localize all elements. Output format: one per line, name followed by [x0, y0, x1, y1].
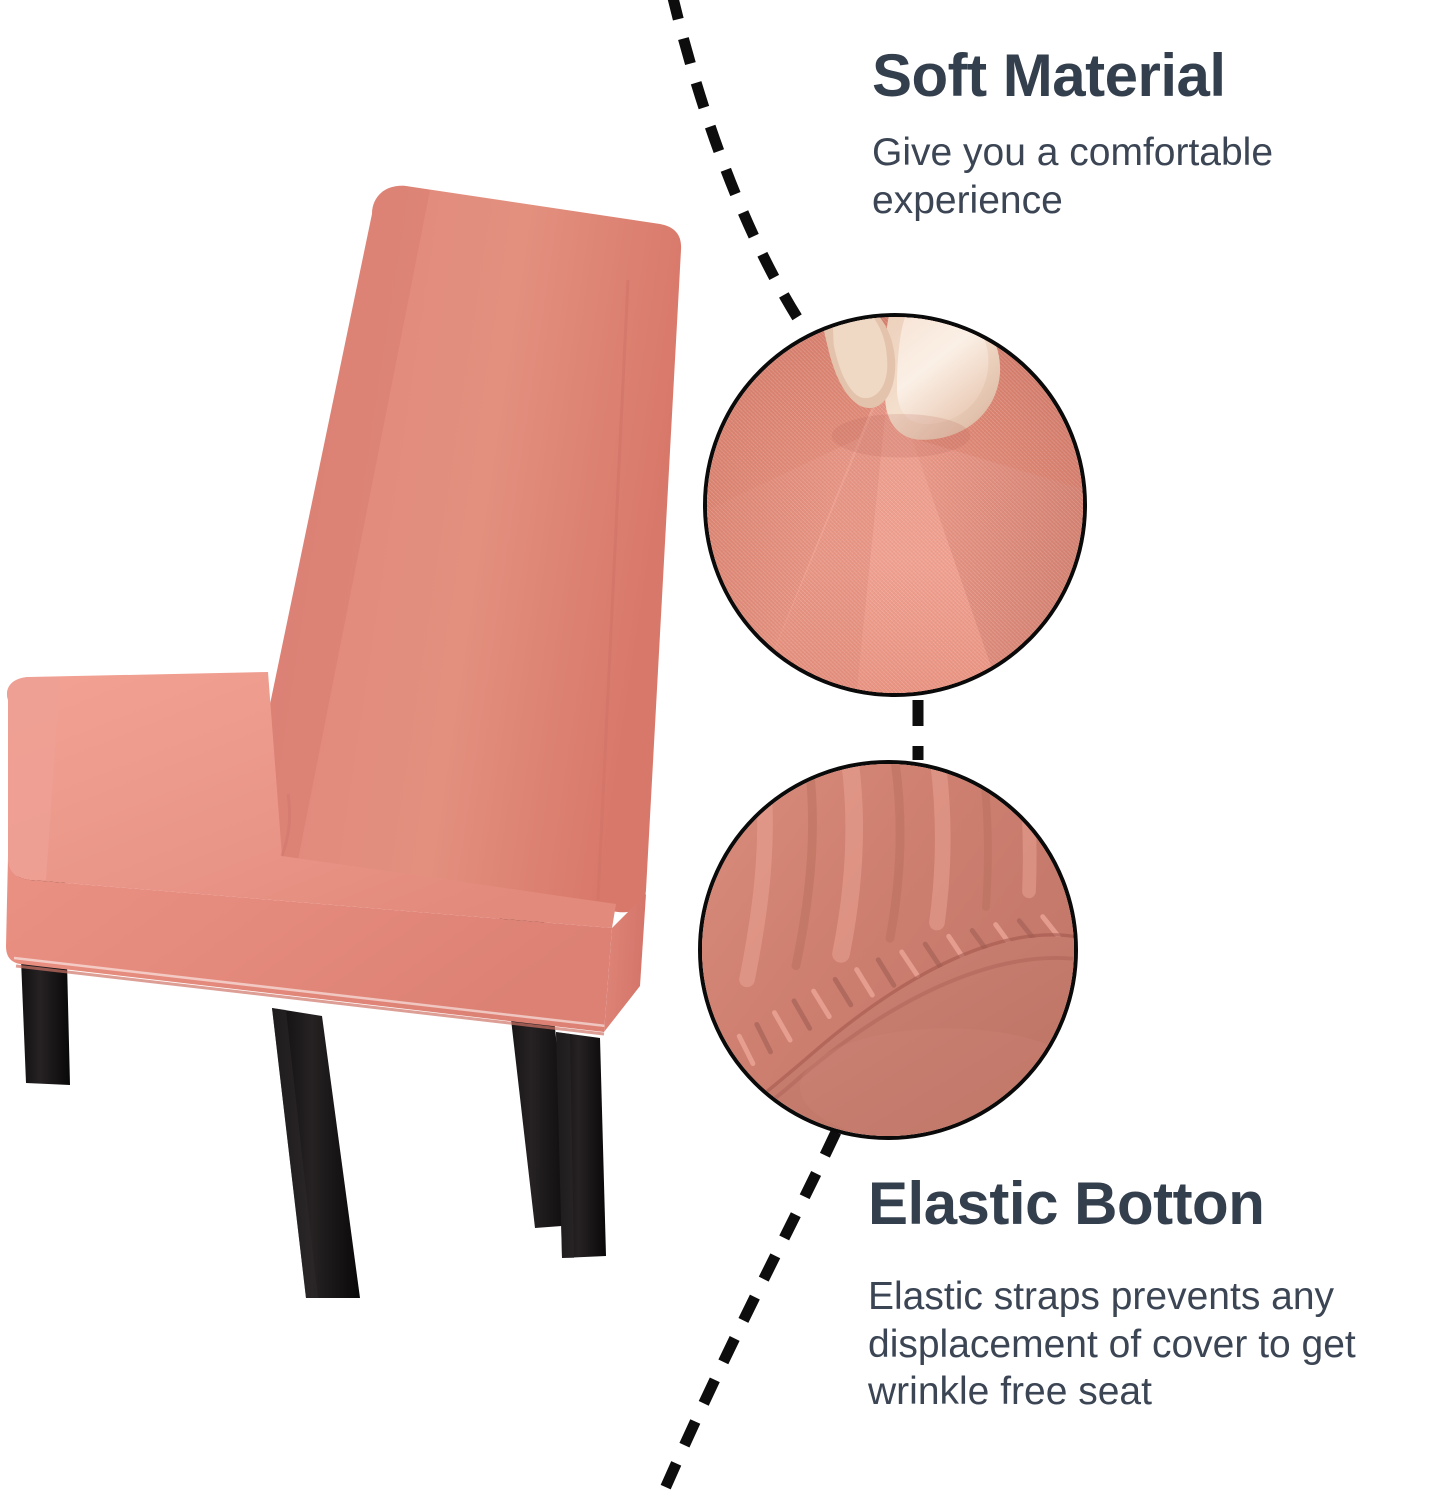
feature-description-elastic-botton: Elastic straps prevents any displacement… [868, 1273, 1428, 1416]
detail-circle-elastic-hem [698, 760, 1078, 1140]
chair-illustration [0, 180, 700, 1310]
fingers-pinching-fabric-icon [707, 317, 1083, 693]
feature-title-soft-material: Soft Material [872, 44, 1432, 107]
feature-block-soft-material: Soft Material Give you a comfortable exp… [872, 44, 1432, 224]
detail-circle-fabric-stretch [703, 313, 1087, 697]
chair-leg-front-right [556, 1032, 606, 1258]
gathered-elastic-hem-icon [702, 764, 1074, 1136]
feature-description-soft-material: Give you a comfortable experience [872, 129, 1392, 224]
chair-back-cover [242, 186, 681, 913]
feature-block-elastic-botton: Elastic Botton Elastic straps prevents a… [868, 1172, 1428, 1416]
product-infographic: Soft Material Give you a comfortable exp… [0, 0, 1445, 1494]
chair-leg-front-left [272, 1008, 360, 1298]
feature-title-elastic-botton: Elastic Botton [868, 1172, 1428, 1235]
